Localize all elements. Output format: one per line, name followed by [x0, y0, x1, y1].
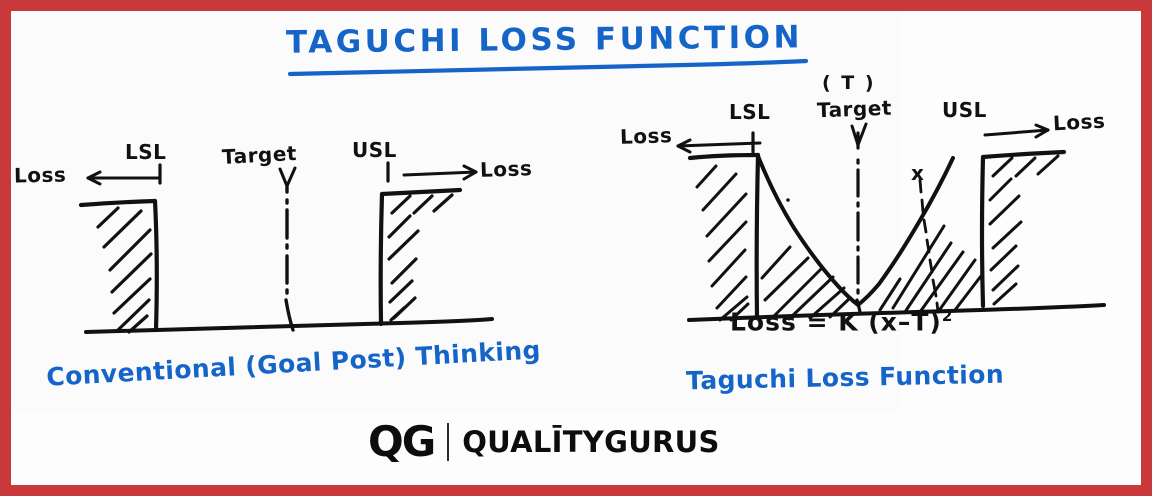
border-right	[1141, 0, 1152, 496]
right-label-target: Target	[817, 96, 893, 123]
left-label-target: Target	[221, 141, 297, 169]
right-label-target-symbol: ( T )	[822, 72, 876, 94]
right-label-x-marker: x	[911, 161, 924, 185]
border-left	[0, 0, 11, 496]
border-top	[0, 0, 1152, 11]
border-bottom	[0, 485, 1152, 496]
taguchi-loss-formula: Loss = K (x–T)2	[730, 307, 953, 336]
logo-divider	[447, 423, 449, 461]
formula-body: Loss = K (x–T)	[730, 307, 942, 336]
page-title: TAGUCHI LOSS FUNCTION	[286, 19, 803, 60]
qg-monogram-icon: QG	[368, 421, 434, 463]
left-label-loss-left: Loss	[14, 163, 67, 188]
left-label-lsl: LSL	[125, 140, 166, 164]
right-label-lsl: LSL	[729, 100, 770, 124]
left-label-loss-right: Loss	[480, 156, 533, 182]
right-label-usl: USL	[942, 98, 987, 122]
right-label-loss-left: Loss	[620, 123, 673, 149]
right-label-loss-right: Loss	[1052, 109, 1105, 136]
qualitygurus-logo: QG QUALĪTYGURUS	[368, 421, 720, 463]
logo-wordmark: QUALĪTYGURUS	[462, 428, 720, 457]
left-label-usl: USL	[352, 138, 397, 162]
slide-canvas: TAGUCHI LOSS FUNCTION Loss LSL Target US…	[0, 0, 1152, 496]
formula-exponent: 2	[942, 307, 953, 325]
